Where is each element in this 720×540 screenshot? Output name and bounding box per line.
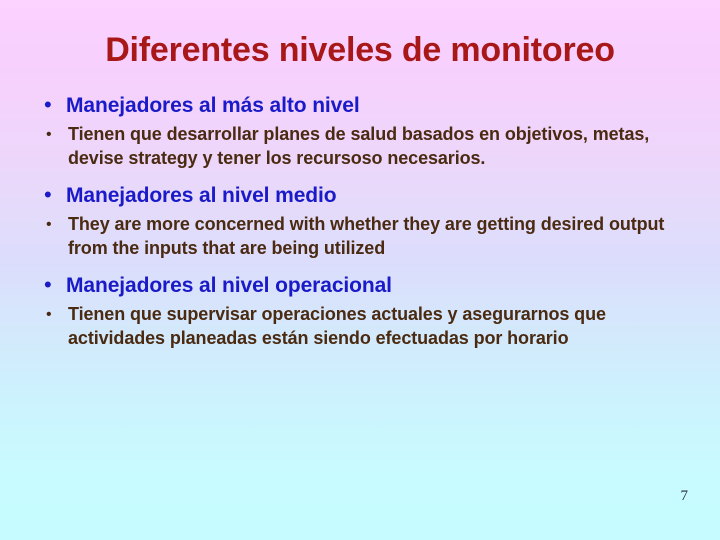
slide-canvas: Diferentes niveles de monitoreo • Maneja… bbox=[0, 0, 720, 540]
bullet-point-icon: • bbox=[44, 272, 66, 298]
slide-title: Diferentes niveles de monitoreo bbox=[0, 32, 720, 69]
bullet-point-icon: • bbox=[46, 122, 68, 147]
detail-bullet-row: • They are more concerned with whether t… bbox=[34, 212, 694, 260]
page-number: 7 bbox=[681, 488, 689, 505]
heading-bullet-row: • Manejadores al más alto nivel bbox=[34, 92, 694, 119]
bullet-point-icon: • bbox=[46, 302, 68, 327]
slide-body: • Manejadores al más alto nivel • Tienen… bbox=[34, 92, 694, 350]
bullet-point-icon: • bbox=[44, 92, 66, 118]
detail-bullet-row: • Tienen que desarrollar planes de salud… bbox=[34, 122, 694, 170]
detail-text: They are more concerned with whether the… bbox=[68, 212, 694, 260]
detail-text: Tienen que supervisar operaciones actual… bbox=[68, 302, 694, 350]
heading-text: Manejadores al más alto nivel bbox=[66, 92, 694, 119]
heading-bullet-row: • Manejadores al nivel operacional bbox=[34, 272, 694, 299]
detail-text: Tienen que desarrollar planes de salud b… bbox=[68, 122, 694, 170]
bullet-group: • Manejadores al más alto nivel • Tienen… bbox=[34, 92, 694, 170]
bullet-point-icon: • bbox=[44, 182, 66, 208]
heading-text: Manejadores al nivel operacional bbox=[66, 272, 694, 299]
heading-text: Manejadores al nivel medio bbox=[66, 182, 694, 209]
bullet-group: • Manejadores al nivel medio • They are … bbox=[34, 182, 694, 260]
bullet-point-icon: • bbox=[46, 212, 68, 237]
heading-bullet-row: • Manejadores al nivel medio bbox=[34, 182, 694, 209]
detail-bullet-row: • Tienen que supervisar operaciones actu… bbox=[34, 302, 694, 350]
bullet-group: • Manejadores al nivel operacional • Tie… bbox=[34, 272, 694, 350]
